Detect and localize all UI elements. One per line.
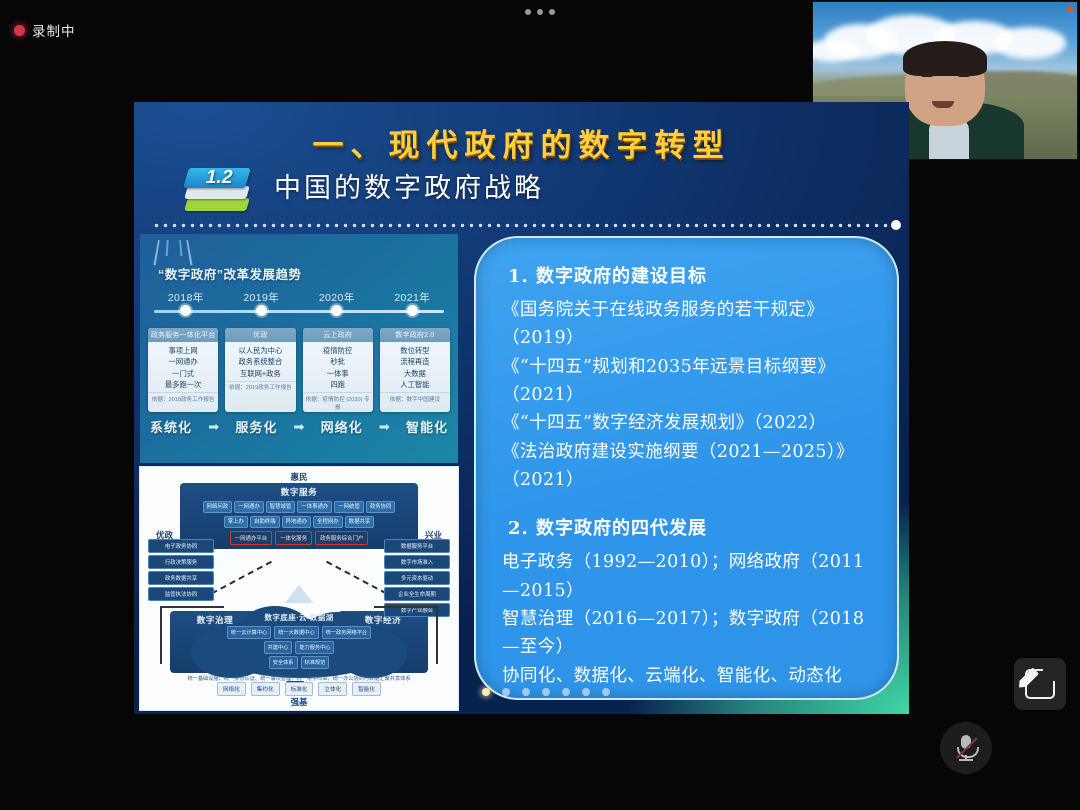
timeline-cards: 政务服务一体化平台 事项上网 一网通办 一门式 最多跑一次 依据：2018政务工… [148,328,450,412]
chip: 异地通办 [282,516,312,528]
chip: 数据共享 [345,516,375,528]
card-item: 一门式 [148,368,218,379]
slide-subtitle: 中国的数字政府战略 [274,166,544,205]
dot [549,9,555,15]
card-item: 互联网+政务 [225,368,295,379]
chip: 一体事通办 [297,501,332,513]
stack-item: 行政决策服务 [148,555,214,569]
chip: 智慧城管 [266,501,296,513]
section1-line: 《国务院关于在线政务服务的若干规定》（2019） [502,296,871,353]
book-badge-icon: 1.2 [182,164,254,216]
icon-mask [1043,667,1057,681]
mic-base [959,759,973,761]
section1-line: 《法治政府建设实施纲要（2021—2025）》（2021） [502,438,871,495]
timeline-node [331,305,342,316]
card-item: 政务系统整合 [225,356,295,367]
chip: 标准规范 [301,656,330,669]
meeting-screen-share-view: 录制中 马长山 [0,0,1080,810]
card-footer: 依据：2019政务工作报告 [225,381,295,393]
timeline-year: 2021年 [375,290,451,305]
card-item: 四跑 [303,379,373,390]
stack-item: 电子政务协同 [148,539,214,553]
stack-item: 企业全生命周期 [384,587,450,601]
pagination-dot-active[interactable] [482,688,490,696]
timeline-card: 数字政府2.0 数位转型 流程再造 大数据 人工智能 依据：数字中国建设 [380,328,450,412]
section2-title: 2. 数字政府的四代发展 [508,514,871,540]
annotate-pencil-icon [1025,669,1055,699]
dot [525,9,531,15]
service-chips: 网络问政 一网通办 智慧城管 一体事通办 一网统管 政务协同 [180,501,418,516]
shared-slide[interactable]: 一、现代政府的数字转型 1.2 中国的数字政府战略 “数字政府”改革发展趋势 2… [134,102,909,714]
section1-line: 《“十四五”规划和2035年远景目标纲要》（2021） [502,353,871,410]
service-box: 数字服务 网络问政 一网通办 智慧城管 一体事通办 一网统管 政务协同 掌上办 … [180,483,418,549]
maturity-flow: 系统化 ➡ 服务化 ➡ 网络化 ➡ 智能化 [150,417,448,436]
chip: 能力服务中心 [295,641,334,654]
person-mouth [932,101,954,108]
cloud-foundation: 数字底座·云·数据湖 统一云计算中心 统一大数据中心 统一政务网络平台 共建中心… [191,604,407,680]
governance-left-stack: 电子政务协同 行政决策服务 政务数据共享 监管执法协同 [148,537,214,603]
timeline-node [180,305,191,316]
card-header: 云上政府 [303,328,373,342]
chart-title: “数字政府”改革发展趋势 [158,264,302,283]
arrow-right-icon: ➡ [208,419,219,435]
chip: 统一政务网络平台 [322,626,372,639]
card-item: 人工智能 [380,379,450,390]
recording-dot-icon [14,25,25,36]
timeline-years: 2018年 2019年 2020年 2021年 [148,290,450,305]
timeline-card: 优政 以人民为中心 政务系统整合 互联网+政务 依据：2019政务工作报告 [225,328,295,412]
stack-item: 数字市场准入 [384,555,450,569]
mute-microphone-button[interactable] [940,722,992,774]
card-header: 数字政府2.0 [380,328,450,342]
chip: 安全体系 [269,656,298,669]
flow-stage: 智能化 [406,417,448,436]
stack-item: 多元资本驱动 [384,571,450,585]
base-chips: 网络化 集约化 标准化 立体化 智能化 [164,682,434,696]
pagination-dot[interactable] [502,688,510,696]
service-box-title: 数字服务 [180,483,418,501]
annotate-button[interactable] [1014,658,1066,710]
stack-item: 政务数据共享 [148,571,214,585]
card-item: 一网通办 [148,356,218,367]
diagram-label-top: 惠民 [290,471,307,483]
card-header: 政务服务一体化平台 [148,328,218,342]
flow-stage: 网络化 [321,417,363,436]
card-item: 疫情防控 [303,345,373,356]
slide-left-column: “数字政府”改革发展趋势 2018年 2019年 2020年 2021年 [140,234,458,706]
chip: 统一大数据中心 [274,626,318,639]
chip: 网络问政 [203,501,233,513]
highlight-chip: 一体化服务 [275,531,312,545]
base-note: 统一基础设施、统一身份认证、统一事项管理、统一电子印章、统一办公协同与数据汇聚共… [140,675,458,682]
microphone-muted-icon [956,735,976,761]
pagination-dot[interactable] [542,688,550,696]
cloud-chips: 统一云计算中心 统一大数据中心 统一政务网络平台 共建中心 能力服务中心 安全体… [213,626,385,671]
card-footer: 依据：2018政务工作报告 [148,392,218,404]
slide-pagination[interactable] [482,688,610,696]
card-item: 秒批 [303,356,373,367]
chip: 一网统管 [334,501,364,513]
chip: 集约化 [251,682,280,696]
arrow-right-icon: ➡ [294,419,305,435]
spacer [502,494,871,512]
pagination-dot[interactable] [562,688,570,696]
card-item: 事项上网 [148,345,218,356]
recording-indicator: 录制中 [14,20,76,40]
card-item: 流程再造 [380,356,450,367]
chevron-decoration-icon [153,240,192,265]
service-chips-row2: 掌上办 自助终端 异地通办 全程网办 数据共享 [180,516,418,531]
timeline-nodes [148,305,450,316]
cloud-title: 数字底座·云·数据湖 [191,612,407,623]
badge-number: 1.2 [204,167,235,189]
pagination-dot[interactable] [522,688,530,696]
chip: 网络化 [217,682,246,696]
chip: 共建中心 [264,641,293,654]
arrow-up-icon [285,585,313,603]
section2-line: 电子政务（1992—2010）；网络政府（2011—2015） [502,548,871,605]
flow-stage: 服务化 [235,417,277,436]
stack-item: 监管执法协同 [148,587,214,601]
dot [537,9,543,15]
pagination-dot[interactable] [602,688,610,696]
chip: 标准化 [285,682,314,696]
chip: 掌上办 [224,516,248,528]
reform-trend-chart: “数字政府”改革发展趋势 2018年 2019年 2020年 2021年 [140,234,458,463]
chip: 自助终端 [250,516,280,528]
slide-title: 一、现代政府的数字转型 [134,120,909,165]
flow-stage: 系统化 [150,417,192,436]
pagination-dot[interactable] [582,688,590,696]
pencil-shape [1016,667,1039,690]
highlight-chip: 一网通办平台 [230,531,272,545]
timeline-year: 2020年 [299,290,375,305]
card-item: 大数据 [380,368,450,379]
card-item: 数位转型 [380,345,450,356]
person-eye [921,73,933,77]
timeline-card: 政务服务一体化平台 事项上网 一网通办 一门式 最多跑一次 依据：2018政务工… [148,328,218,412]
timeline-node [256,305,267,316]
stack-item: 数据服务平台 [384,539,450,553]
chip: 全程网办 [313,516,343,528]
card-item: 一体事 [303,368,373,379]
cloud-shape [812,40,861,62]
book-layer [184,198,250,211]
diagram-label-bottom: 强基 [290,696,307,708]
digital-government-architecture-diagram: 惠民 优政 兴业 数字服务 网络问政 一网通办 智慧城管 一体事通办 一网统管 … [140,467,458,710]
card-item: 最多跑一次 [148,379,218,390]
recording-label: 录制中 [32,20,76,40]
section1-title: 1. 数字政府的建设目标 [508,262,871,288]
highlight-chips: 一网通办平台 一体化服务 政务服务综合门户 [180,531,418,549]
person-hair [903,41,987,76]
section2-line: 协同化、数据化、云端化、智能化、动态化 [502,662,871,690]
timeline-node [407,305,418,316]
chip: 立体化 [318,682,347,696]
section1-line: 《“十四五”数字经济发展规划》（2022） [502,409,871,437]
card-footer: 依据：数字中国建设 [380,392,450,404]
timeline-card: 云上政府 疫情防控 秒批 一体事 四跑 依据：疫情防控 (2020) 专报 [303,328,373,412]
card-header: 优政 [225,328,295,342]
cloud-shape [993,27,1067,58]
arrow-right-icon: ➡ [379,419,390,435]
person-eye [958,73,970,77]
card-footer: 依据：疫情防控 (2020) 专报 [303,392,373,412]
section2-line: 智慧治理（2016—2017）；数字政府（2018 —至今） [502,605,871,662]
highlight-chip: 政务服务综合门户 [315,531,368,545]
dotted-divider [152,222,895,229]
chip: 智能化 [352,682,381,696]
timeline-year: 2019年 [224,290,300,305]
timeline-year: 2018年 [148,290,224,305]
chip: 一网通办 [234,501,264,513]
chip: 政务协同 [366,501,396,513]
card-item: 以人民为中心 [225,345,295,356]
slide-right-panel: 1. 数字政府的建设目标 《国务院关于在线政务服务的若干规定》（2019） 《“… [474,236,899,700]
status-dot-icon [1067,6,1073,12]
chip: 统一云计算中心 [227,626,271,639]
